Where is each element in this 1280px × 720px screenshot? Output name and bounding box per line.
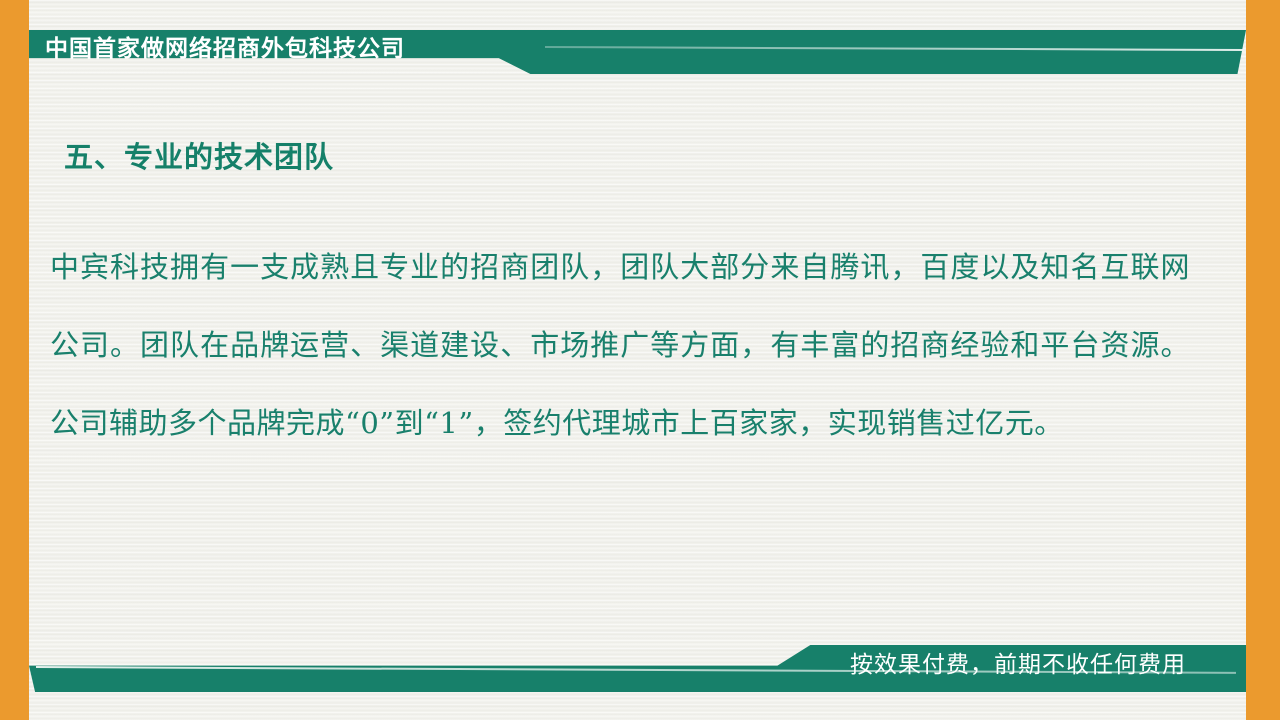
slide-root: 中国首家做网络招商外包科技公司 五、专业的技术团队 中宾科技拥有一支成熟且专业的… bbox=[0, 0, 1280, 720]
footer-tagline: 按效果付费，前期不收任何费用 bbox=[850, 646, 1186, 684]
header-title: 中国首家做网络招商外包科技公司 bbox=[45, 32, 405, 66]
section-heading: 五、专业的技术团队 bbox=[64, 134, 334, 176]
body-paragraph: 中宾科技拥有一支成熟且专业的招商团队，团队大部分来自腾讯，百度以及知名互联网公司… bbox=[50, 228, 1190, 462]
